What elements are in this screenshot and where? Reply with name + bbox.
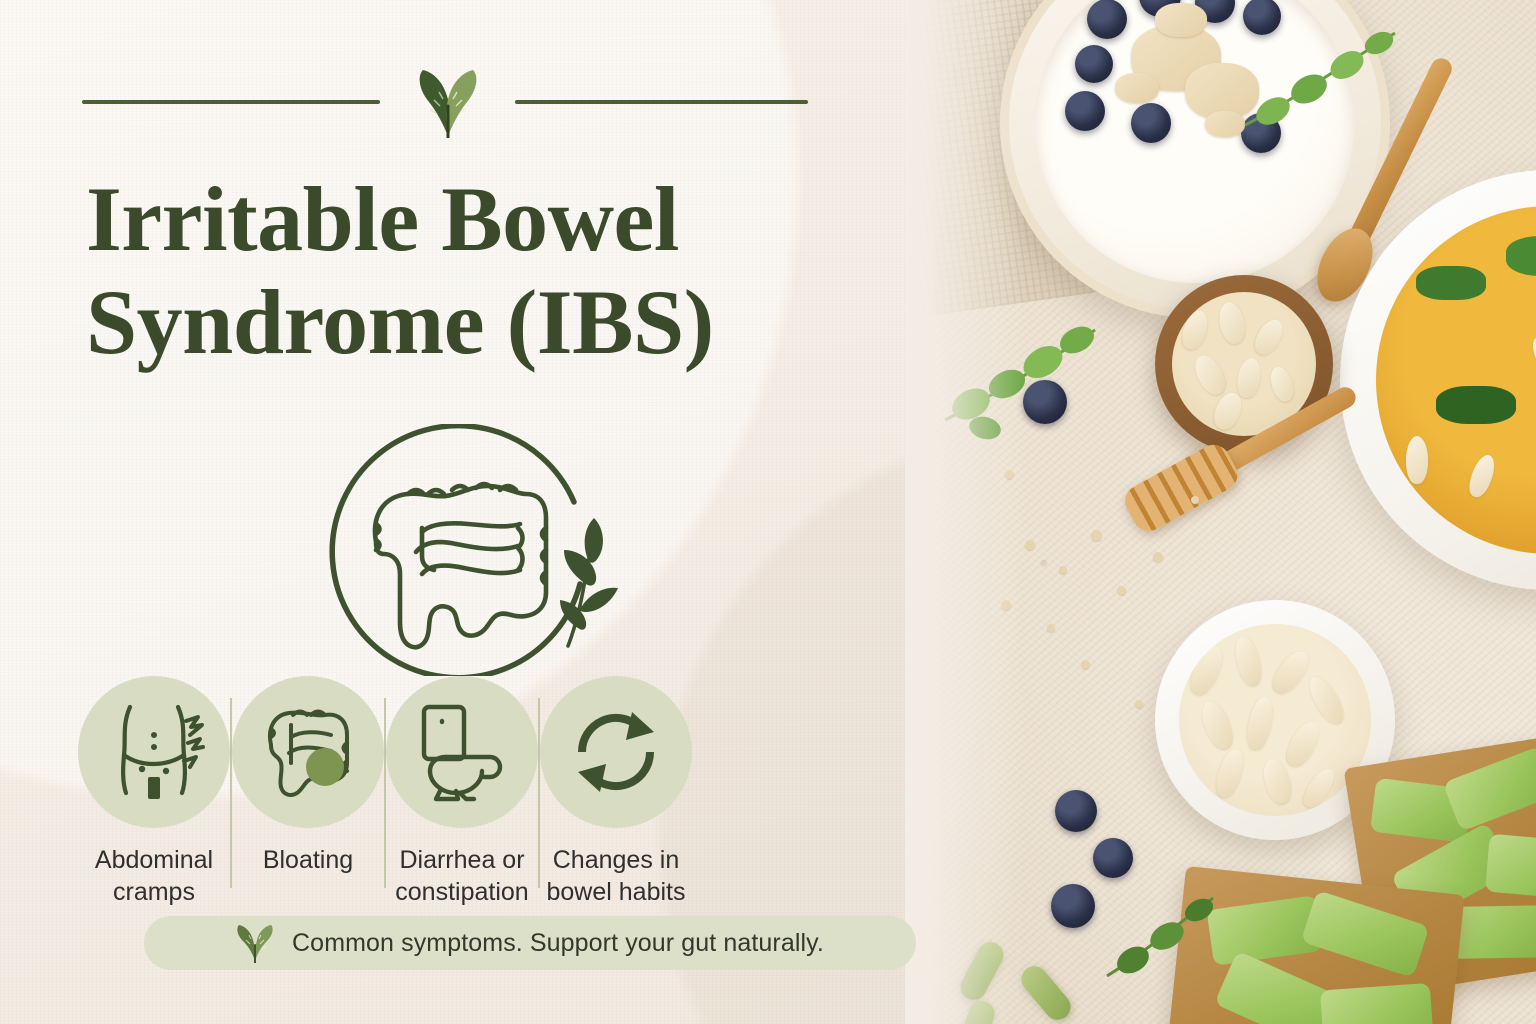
symptom-label-line-1: Changes in — [553, 846, 679, 874]
herb-sprig — [1095, 880, 1225, 990]
symptom-item-diarrhea-constipation[interactable]: Diarrhea or constipation — [386, 676, 538, 908]
symptom-label-line-2: bowel habits — [547, 878, 686, 906]
oat-crumb — [1047, 624, 1055, 632]
symptom-label-line-1: Bloating — [263, 846, 353, 874]
herb-sprig — [1235, 15, 1405, 140]
symptom-label: Changes in bowel habits — [547, 844, 686, 908]
oat-flake — [1178, 308, 1211, 353]
oat-crumb — [1117, 586, 1126, 595]
infographic-canvas: Irritable Bowel Syndrome (IBS) — [0, 0, 1536, 1024]
granola-cluster — [1115, 73, 1159, 103]
greens — [1506, 236, 1536, 276]
symptom-item-bowel-habit-changes[interactable]: Changes in bowel habits — [540, 676, 692, 908]
oat-crumb — [1081, 660, 1090, 669]
symptom-label-line-2: cramps — [113, 878, 195, 906]
oat-flake — [1190, 351, 1231, 399]
oat-flake — [1235, 356, 1264, 399]
leaf-branch-icon — [560, 518, 618, 646]
oat-crumb — [1091, 530, 1102, 541]
almond-sliver — [1212, 746, 1248, 800]
intestine-in-circle-icon — [288, 424, 628, 676]
almond-sliver — [1185, 641, 1228, 698]
avocado-slice — [1485, 834, 1536, 900]
abdomen-cramps-icon — [78, 676, 230, 828]
almond-sliver — [1267, 646, 1315, 699]
bloated-intestine-icon — [232, 676, 384, 828]
blueberry — [1131, 103, 1171, 143]
symptom-item-abdominal-cramps[interactable]: Abdominal cramps — [78, 676, 230, 908]
almond-sliver — [1528, 334, 1536, 380]
divider-rule-left — [82, 100, 380, 104]
avocado-slice — [1320, 983, 1434, 1024]
avocado-slice — [1443, 746, 1536, 832]
page-title: Irritable Bowel Syndrome (IBS) — [86, 168, 906, 374]
oat-crumb — [1025, 540, 1035, 550]
oat-flake — [1250, 315, 1288, 359]
food-photograph — [905, 0, 1536, 1024]
content-panel: Irritable Bowel Syndrome (IBS) — [0, 0, 940, 1024]
oat-crumb — [1191, 496, 1199, 504]
greens — [1436, 386, 1516, 424]
oat-flake — [1216, 300, 1248, 346]
blueberry — [1055, 790, 1097, 832]
title-line-1: Irritable Bowel — [86, 168, 906, 271]
blueberry — [1087, 0, 1127, 39]
symptom-label-line-1: Abdominal — [95, 846, 213, 874]
oat-crumb — [1059, 566, 1067, 574]
footer-banner[interactable]: Common symptoms. Support your gut natura… — [144, 916, 916, 970]
symptom-label: Diarrhea or constipation — [395, 844, 528, 908]
leaf-sprig-icon — [236, 923, 274, 963]
symptom-item-bloating[interactable]: Bloating — [232, 676, 384, 876]
avocado-slice — [1301, 890, 1430, 978]
blueberry — [1075, 45, 1113, 83]
almond-sliver — [1303, 672, 1348, 728]
title-line-2: Syndrome (IBS) — [86, 271, 906, 374]
symptom-label: Abdominal cramps — [95, 844, 213, 908]
symptom-label-line-2: constipation — [395, 878, 528, 906]
almond-sliver — [1244, 694, 1277, 751]
oat-crumb — [1135, 700, 1143, 708]
cycle-arrows-icon — [540, 676, 692, 828]
almond-sliver — [1465, 452, 1499, 500]
almond-slivers — [1179, 624, 1371, 816]
symptom-label: Bloating — [263, 844, 353, 876]
almond-sliver — [1231, 634, 1264, 688]
almond-sliver — [1281, 717, 1325, 771]
banner-text: Common symptoms. Support your gut natura… — [292, 929, 824, 958]
granola-cluster — [1155, 3, 1207, 37]
blueberry — [1093, 838, 1133, 878]
oat-crumb — [1153, 552, 1163, 562]
leaf-pair-icon — [399, 66, 497, 138]
blueberry — [1051, 884, 1095, 928]
blueberry — [1065, 91, 1105, 131]
header-divider-row — [82, 66, 808, 138]
almond-sliver — [1298, 764, 1339, 812]
toilet-icon — [386, 676, 538, 828]
almond-sliver — [1406, 436, 1428, 484]
divider-rule-right — [515, 100, 808, 104]
greens — [1416, 266, 1486, 300]
symptoms-row: Abdominal cramps — [78, 676, 978, 900]
soup-surface — [1376, 206, 1536, 554]
almond-sliver — [1197, 697, 1238, 752]
symptom-label-line-1: Diarrhea or — [399, 846, 524, 874]
